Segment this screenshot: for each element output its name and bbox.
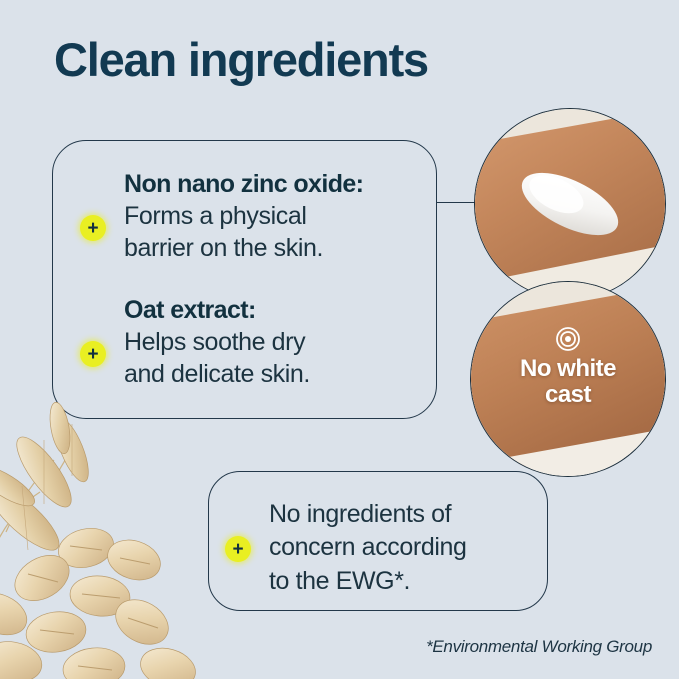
- no-white-cast-label: No white cast: [520, 356, 616, 408]
- bullet-no-ingredients-of-concern: + No ingredients of concern according to…: [225, 498, 467, 598]
- ewg-body-line-3: to the EWG*.: [269, 565, 467, 598]
- photo-cream-swatch: [474, 108, 666, 300]
- target-rings-icon: [555, 326, 581, 352]
- ewg-body-line-1: No ingredients of: [269, 498, 467, 531]
- bullet-heading: Non nano zinc oxide:: [124, 170, 363, 200]
- footnote: *Environmental Working Group: [426, 637, 652, 657]
- page-title: Clean ingredients: [54, 32, 428, 87]
- bullet-body-line-2: and delicate skin.: [124, 358, 310, 391]
- plus-badge-icon: +: [80, 341, 106, 367]
- bullet-body-line-1: Forms a physical: [124, 200, 363, 233]
- bullet-heading: Oat extract:: [124, 296, 310, 326]
- bullet-body-line-2: barrier on the skin.: [124, 232, 363, 265]
- bullet-non-nano-zinc-oxide: + Non nano zinc oxide: Forms a physical …: [80, 170, 363, 265]
- ewg-body-line-2: concern according: [269, 531, 467, 564]
- bullet-body-line-1: Helps soothe dry: [124, 326, 310, 359]
- bullet-oat-extract: + Oat extract: Helps soothe dry and deli…: [80, 296, 310, 391]
- plus-badge-icon: +: [80, 215, 106, 241]
- photo-no-white-cast: No white cast: [470, 281, 666, 477]
- oat-decoration-image: [0, 400, 232, 679]
- promo-graphic: Clean ingredients: [0, 0, 679, 679]
